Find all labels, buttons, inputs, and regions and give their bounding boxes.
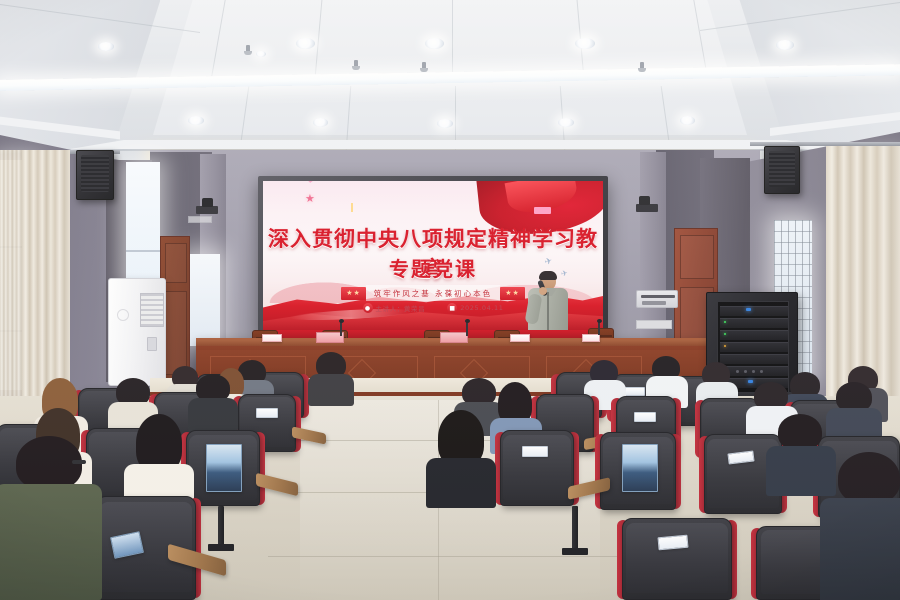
downlight: [98, 42, 114, 51]
name-card: [262, 334, 282, 342]
ac-logo: [117, 309, 129, 321]
door-panel: [165, 291, 187, 375]
seat-foot: [562, 548, 588, 555]
seat-cushion: [503, 435, 571, 500]
slogan-right-stars: ★★: [500, 287, 525, 300]
seat-leg: [218, 506, 224, 546]
downlight: [256, 51, 266, 57]
seat-number-tag: [522, 446, 548, 457]
wall-shelf-left: [196, 206, 218, 214]
ceiling-seam: [452, 0, 453, 80]
attendee-hair: [778, 414, 822, 450]
presenter-hand: [539, 287, 547, 295]
ac-vent-slot: [641, 295, 675, 298]
rack-led-indicator: [724, 333, 726, 335]
rack-led-indicator: [748, 380, 753, 383]
sprinkler-head: [354, 60, 358, 69]
attendee-torso: [188, 398, 238, 432]
slide-date-label: 2025.04.11: [460, 304, 503, 312]
downlight: [313, 118, 328, 127]
rack-led-indicator: [724, 321, 726, 323]
seat-number-tag: [657, 535, 688, 551]
wall-air-conditioner: [636, 290, 678, 308]
door-panel: [680, 235, 714, 279]
seat-foot: [208, 544, 234, 551]
rack-knob[interactable]: [736, 370, 739, 373]
rack-unit[interactable]: [720, 318, 788, 328]
rack-unit[interactable]: [720, 330, 788, 340]
desk-microphone: [340, 322, 342, 336]
downlight: [425, 38, 444, 49]
pink-accent-chip: [534, 207, 551, 214]
attendee-torso: [766, 446, 836, 496]
presenter-shirt-placket: [547, 292, 549, 332]
speaker-grille: [769, 151, 795, 187]
presenter: [525, 272, 571, 338]
downlight: [296, 38, 315, 49]
downlight: [776, 40, 794, 50]
seat-number-tag: [625, 387, 645, 396]
wall-sign-plate: [636, 320, 672, 329]
downlight: [437, 119, 453, 128]
floor-air-conditioner: [108, 278, 166, 386]
speaker-grille: [81, 155, 108, 192]
attendee-hair: [838, 452, 900, 504]
ac-label: [642, 301, 666, 305]
kettle-left: [202, 198, 213, 207]
ceiling-cornice: [70, 140, 840, 149]
rack-knob[interactable]: [760, 370, 763, 373]
seat-number-tag: [256, 408, 278, 418]
sprinkler-head: [422, 62, 426, 71]
spark-decoration: [351, 203, 353, 212]
downlight: [188, 116, 204, 125]
name-card: [440, 332, 468, 343]
slide-speaker-label: 主讲人：黄荣昌: [376, 303, 426, 313]
rack-unit[interactable]: [720, 354, 788, 364]
ac-vent: [140, 293, 164, 327]
seat-leg: [572, 506, 578, 550]
wall-speaker-right: [764, 146, 800, 194]
kettle-right: [639, 196, 650, 205]
slide-speaker-meta: ● 主讲人：黄荣昌: [363, 303, 426, 313]
wall-sign-plate-left: [188, 216, 212, 223]
rack-knob[interactable]: [744, 370, 747, 373]
sprinkler-head: [640, 62, 644, 71]
star-icon: ★: [305, 193, 315, 204]
rack-knob[interactable]: [752, 370, 755, 373]
seat-pocket-booklet[interactable]: [206, 444, 242, 492]
seat[interactable]: [186, 430, 260, 506]
wall-shelf-right: [636, 204, 658, 212]
calendar-badge-icon: ■: [447, 303, 457, 313]
eyeglasses-icon: [72, 460, 86, 464]
seat-pocket-booklet[interactable]: [622, 444, 658, 492]
curtain-left: [22, 150, 70, 408]
slide-date-meta: ■ 2025.04.11: [447, 303, 503, 313]
person-badge-icon: ●: [363, 303, 373, 313]
seat-cushion: [626, 523, 727, 594]
presenter-hair: [539, 271, 557, 280]
slogan-text: 筑牢作风之基 永葆初心本色: [366, 285, 500, 301]
rack-unit[interactable]: [720, 342, 788, 352]
name-card: [582, 334, 600, 342]
slogan-left-stars: ★★: [341, 287, 366, 300]
rack-unit[interactable]: [720, 306, 788, 316]
sprinkler-head: [246, 45, 250, 54]
desk-microphone: [598, 322, 600, 335]
seat-number-tag: [634, 412, 656, 422]
downlight: [558, 118, 574, 127]
downlight: [680, 116, 695, 125]
desk-microphone: [466, 322, 468, 336]
curtain-left-edge: [0, 150, 24, 410]
rack-led-indicator: [724, 345, 726, 347]
seat[interactable]: [500, 430, 574, 506]
attendee-torso: [820, 498, 900, 600]
window-side-left: [186, 254, 220, 346]
name-card: [510, 334, 530, 342]
attendee-torso: [426, 458, 496, 508]
floor-tile-line: [268, 556, 638, 557]
ac-display[interactable]: [147, 337, 157, 351]
rack-led-indicator: [746, 308, 751, 311]
window-mullion: [126, 250, 160, 252]
conference-room-scene: ★ ✈ ✈ 深入贯彻中央八项规定精神学习教育 专题党课 ★★ 筑牢作风之基 永葆…: [0, 0, 900, 600]
attendee-torso: [0, 484, 102, 600]
door-panel: [165, 243, 187, 283]
wall-speaker-left: [76, 150, 114, 200]
seat[interactable]: [622, 518, 732, 600]
seat[interactable]: [600, 432, 676, 510]
attendee-torso: [308, 374, 354, 406]
downlight: [575, 38, 595, 49]
